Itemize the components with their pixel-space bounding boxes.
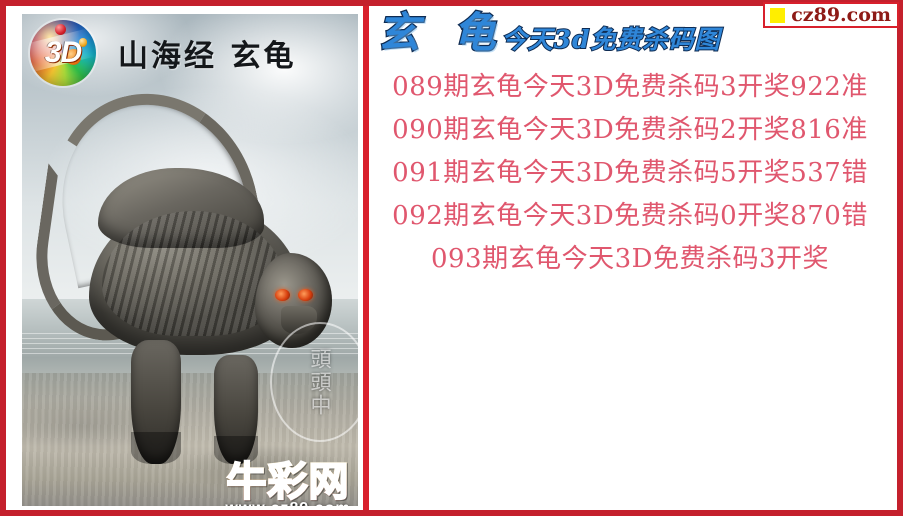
results-banner-heading: 玄 龟 今天3d免费杀码图: [377, 12, 721, 54]
turtle-head: [255, 253, 332, 348]
logo-3d-text: 3D: [30, 20, 96, 86]
cz89-badge-label: cz89.com: [791, 6, 891, 25]
mythical-turtle-illustration: [42, 93, 338, 457]
turtle-front-leg: [131, 340, 181, 464]
result-row: 090期玄龟今天3D免费杀码2开奖816准: [369, 109, 891, 152]
cz89-site-badge[interactable]: cz89.com: [763, 2, 899, 28]
poster-header: 3D 山海经 玄龟: [22, 14, 358, 92]
result-list: 089期玄龟今天3D免费杀码3开奖922准 090期玄龟今天3D免费杀码2开奖8…: [369, 66, 891, 281]
brand-name: 牛彩网: [202, 462, 358, 502]
results-panel: 玄 龟 今天3d免费杀码图 089期玄龟今天3D免费杀码3开奖922准 090期…: [369, 6, 891, 510]
banner-small-text: 今天3d免费杀码图: [502, 27, 721, 54]
turtle-back-leg: [214, 355, 258, 464]
poster-title: 山海经 玄龟: [118, 31, 296, 75]
turtle-beak: [281, 306, 316, 334]
xuangui-poster-image: 頭頭中 3D 山海经 玄龟 牛彩网 www.cz89.com: [22, 14, 358, 506]
banner-big-text: 玄 龟: [377, 12, 506, 54]
yellow-square-icon: [770, 8, 785, 23]
result-row: 091期玄龟今天3D免费杀码5开奖537错: [369, 152, 891, 195]
brand-watermark: 牛彩网 www.cz89.com: [202, 462, 358, 506]
3d-lottery-logo-icon: 3D: [30, 20, 96, 86]
poster-page: 頭頭中 3D 山海经 玄龟 牛彩网 www.cz89.com 玄 龟 今天3d免…: [0, 0, 903, 516]
turtle-eye-left: [275, 289, 290, 301]
turtle-eye-right: [298, 289, 313, 301]
result-row: 093期玄龟今天3D免费杀码3开奖: [369, 238, 891, 281]
result-row: 092期玄龟今天3D免费杀码0开奖870错: [369, 195, 891, 238]
result-row: 089期玄龟今天3D免费杀码3开奖922准: [369, 66, 891, 109]
